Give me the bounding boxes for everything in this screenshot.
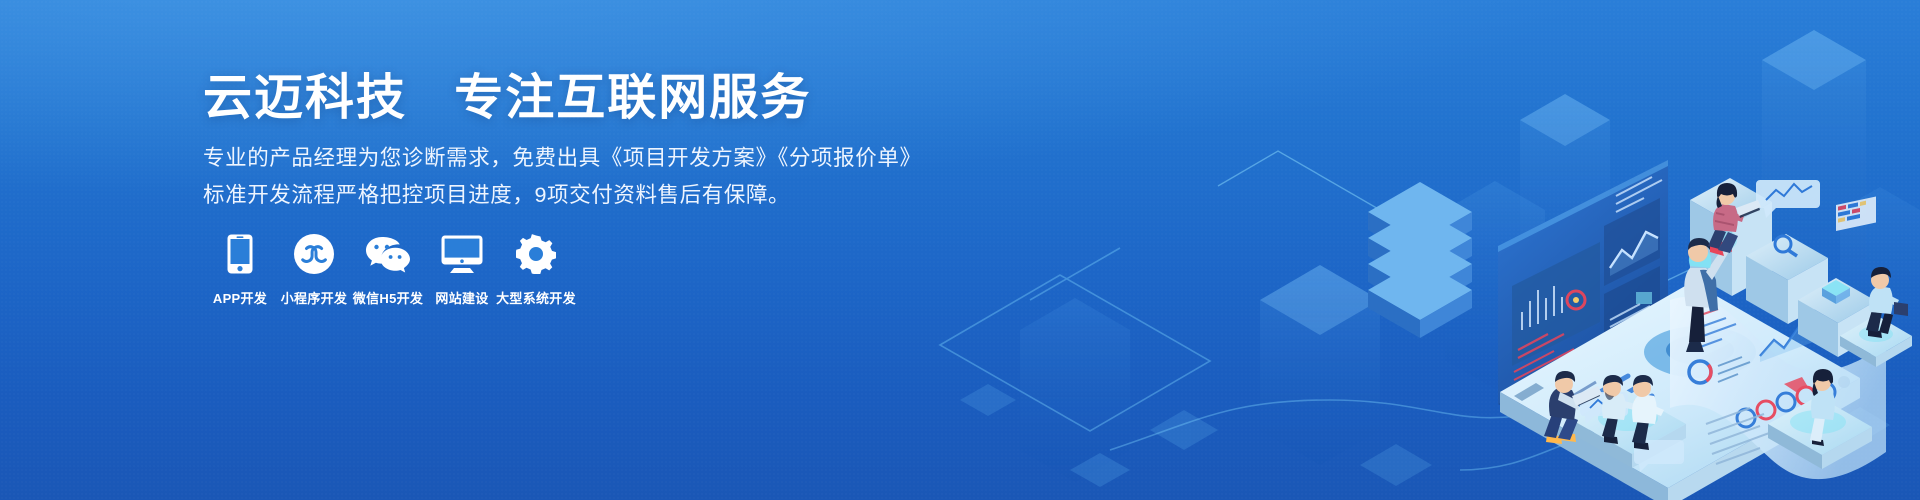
service-item-website[interactable]: 网站建设 [425,232,499,307]
headline-tagline: 专注互联网服务 [454,71,811,125]
service-item-large-system[interactable]: 大型系统开发 [499,232,573,307]
headline-brand: 云迈科技 [203,71,407,125]
service-icon-row: APP开发 小程序开发 [203,232,573,307]
mini-program-icon [294,232,334,276]
service-item-wechat-h5[interactable]: 微信H5开发 [351,232,425,307]
service-label: 网站建设 [435,288,488,307]
page-title: 云迈科技 专注互联网服务 [203,72,811,125]
hero-banner: 云迈科技 专注互联网服务 专业的产品经理为您诊断需求，免费出具《项目开发方案》《… [0,0,1920,500]
service-item-miniprogram[interactable]: 小程序开发 [277,232,351,307]
subtitle-line-2: 标准开发流程严格把控项目进度，9项交付资料售后有保障。 [203,185,790,207]
illustration-isometric-team-data-dashboard [900,0,1920,500]
monitor-icon [441,232,483,276]
mobile-phone-icon [227,232,253,276]
server-stack-graphic [1368,182,1472,338]
service-label: 微信H5开发 [353,288,423,307]
banner-content: 云迈科技 专注互联网服务 专业的产品经理为您诊断需求，免费出具《项目开发方案》《… [203,0,983,500]
service-label: APP开发 [213,288,267,307]
service-label: 小程序开发 [281,288,348,307]
wechat-icon [365,232,411,276]
gear-icon [516,232,556,276]
service-label: 大型系统开发 [496,288,576,307]
service-item-app[interactable]: APP开发 [203,232,277,307]
subtitle-line-1: 专业的产品经理为您诊断需求，免费出具《项目开发方案》《分项报价单》 [203,148,922,170]
